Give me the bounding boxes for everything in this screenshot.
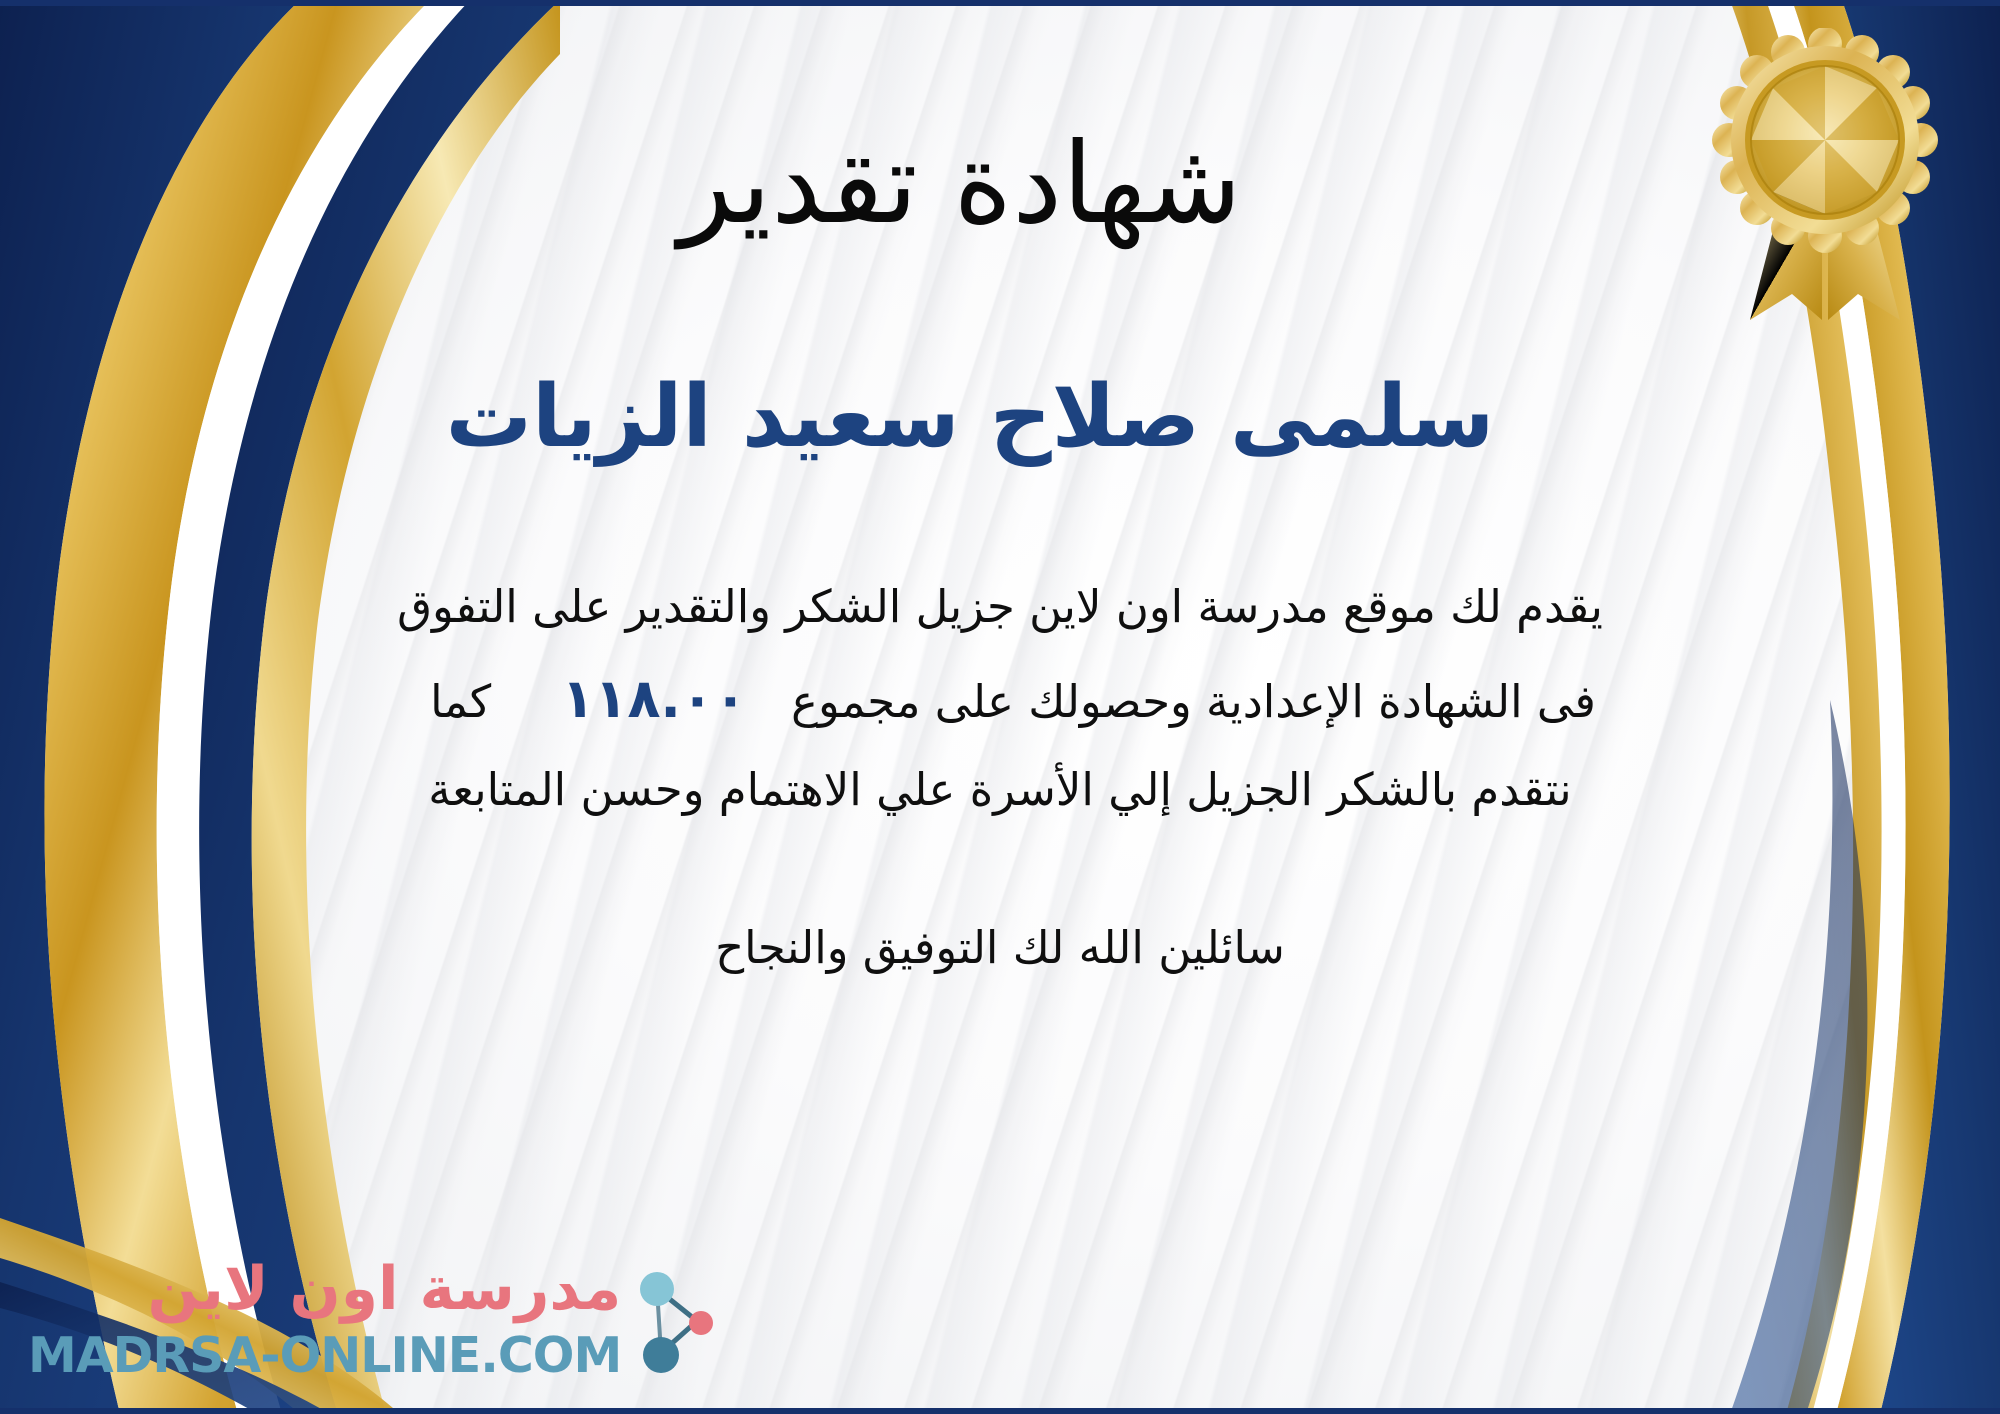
certificate-content: شهادة تقدير سلمى صلاح سعيد الزيات يقدم ل…: [0, 0, 2000, 1414]
certificate-title: شهادة تقدير: [0, 118, 1960, 250]
certificate-canvas: شهادة تقدير سلمى صلاح سعيد الزيات يقدم ل…: [0, 0, 2000, 1414]
body-line-2: فى الشهادة الإعدادية وحصولك على مجموع ١١…: [285, 649, 1715, 749]
certificate-body: يقدم لك موقع مدرسة اون لاين جزيل الشكر و…: [285, 565, 1715, 831]
body-line-3: نتقدم بالشكر الجزيل إلي الأسرة علي الاهت…: [285, 748, 1715, 831]
body-line-1: يقدم لك موقع مدرسة اون لاين جزيل الشكر و…: [285, 565, 1715, 648]
brand-website: MADRSA-ONLINE.COM: [28, 1331, 621, 1380]
brand-text-group: مدرسة اون لاين MADRSA-ONLINE.COM: [28, 1259, 621, 1380]
score-value: ١١٨.٠٠: [532, 667, 777, 730]
recipient-name: سلمى صلاح سعيد الزيات: [0, 366, 1970, 469]
body-line-2-prefix: فى الشهادة الإعدادية وحصولك على مجموع: [791, 675, 1596, 728]
brand-logo[interactable]: مدرسة اون لاين MADRSA-ONLINE.COM: [28, 1259, 727, 1380]
body-line-2-suffix: كما: [404, 675, 517, 728]
closing-line: سائلين الله لك التوفيق والنجاح: [285, 910, 1715, 987]
brand-arabic-name: مدرسة اون لاين: [147, 1259, 621, 1319]
gold-medal-rosette-icon: [1710, 28, 1940, 328]
network-nodes-icon: [631, 1265, 727, 1375]
